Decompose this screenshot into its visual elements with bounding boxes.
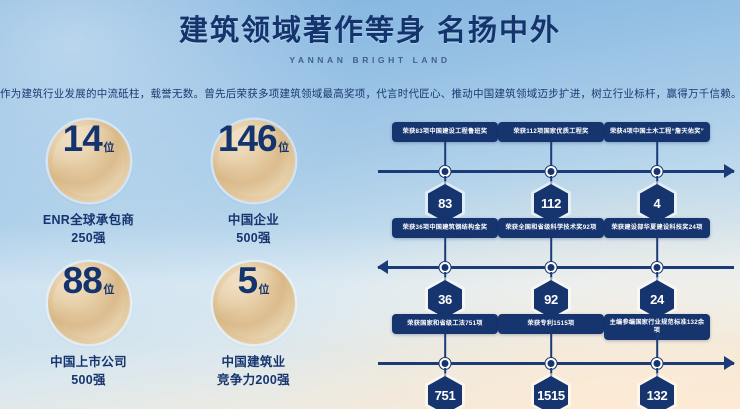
stat-label-line1: 中国建筑业: [217, 353, 290, 371]
stat-label: 中国企业500强: [228, 211, 279, 247]
timeline-item[interactable]: 荣获4项中国土木工程“詹天佑奖”4: [604, 122, 710, 208]
achievement-count: 1515: [537, 388, 565, 403]
achievement-label: 荣获36项中国建筑钢结构金奖: [392, 218, 498, 238]
achievement-count: 132: [647, 388, 668, 403]
stat-label-line1: 中国企业: [228, 211, 279, 229]
timeline-items: 荣获36项中国建筑钢结构金奖36荣获全国和省级科学技术奖92项92荣获建设部华夏…: [378, 218, 734, 304]
achievement-label: 荣获全国和省级科学技术奖92项: [498, 218, 604, 238]
timeline-item[interactable]: 荣获专利1515项1515: [498, 314, 604, 400]
achievement-label: 荣获建设部华夏建设科技奖24项: [604, 218, 710, 238]
page-subtitle-en: YANNAN BRIGHT LAND: [0, 55, 740, 65]
timeline-item[interactable]: 荣获建设部华夏建设科技奖24项24: [604, 218, 710, 304]
stat-label-line2: 250强: [43, 229, 134, 247]
stat-rank-unit: 位: [103, 139, 114, 155]
timeline-connector-upper: [656, 334, 658, 358]
achievement-label: 荣获国家和省级工法751项: [392, 314, 498, 334]
timeline-connector-upper: [656, 142, 658, 166]
achievement-count: 751: [435, 388, 456, 403]
page-header: 建筑领域著作等身 名扬中外 YANNAN BRIGHT LAND: [0, 14, 740, 65]
page-title: 建筑领域著作等身 名扬中外: [0, 14, 740, 49]
stat-rank-number: 5: [237, 262, 257, 299]
gold-medal-badge: 5位: [213, 262, 295, 344]
timeline-item[interactable]: 荣获36项中国建筑钢结构金奖36: [392, 218, 498, 304]
timeline-connector-upper: [444, 238, 446, 262]
timeline-item[interactable]: 荣获112项国家优质工程奖112: [498, 122, 604, 208]
stat-label: 中国建筑业竞争力200强: [217, 353, 290, 389]
gold-medal-badge: 146位: [213, 120, 295, 202]
achievement-label: 荣获专利1515项: [498, 314, 604, 334]
gold-medal-badge: 88位: [48, 262, 130, 344]
timeline-connector-upper: [550, 238, 552, 262]
achievement-count: 24: [650, 292, 664, 307]
stat-card: 88位中国上市公司500强: [6, 262, 171, 404]
timeline-connector-upper: [444, 334, 446, 358]
achievement-count: 36: [438, 292, 452, 307]
stat-label-line2: 500强: [228, 229, 279, 247]
intro-paragraph: 作为建筑行业发展的中流砥柱，载誉无数。曾先后荣获多项建筑领域最高奖项，代言时代匠…: [0, 86, 740, 101]
achievement-label: 荣获112项国家优质工程奖: [498, 122, 604, 142]
stat-label-line2: 500强: [50, 371, 127, 389]
timeline-connector-upper: [550, 142, 552, 166]
timeline-row: 荣获83项中国建设工程鲁班奖83荣获112项国家优质工程奖112荣获4项中国土木…: [378, 122, 734, 208]
timeline-items: 荣获国家和省级工法751项751荣获专利1515项1515主编参编国家行业规范标…: [378, 314, 734, 400]
stat-label: 中国上市公司500强: [50, 353, 127, 389]
achievement-label: 荣获83项中国建设工程鲁班奖: [392, 122, 498, 142]
stat-label-line1: 中国上市公司: [50, 353, 127, 371]
gold-medal-badge: 14位: [48, 120, 130, 202]
achievement-count: 4: [654, 196, 661, 211]
timeline-connector-upper: [444, 142, 446, 166]
achievement-count: 92: [544, 292, 558, 307]
timeline-item[interactable]: 荣获83项中国建设工程鲁班奖83: [392, 122, 498, 208]
timeline-items: 荣获83项中国建设工程鲁班奖83荣获112项国家优质工程奖112荣获4项中国土木…: [378, 122, 734, 208]
stat-label-line1: ENR全球承包商: [43, 211, 134, 229]
stat-rank-unit: 位: [103, 281, 114, 297]
achievement-count: 83: [438, 196, 452, 211]
stat-label-line2: 竞争力200强: [217, 371, 290, 389]
timeline-row: 荣获36项中国建筑钢结构金奖36荣获全国和省级科学技术奖92项92荣获建设部华夏…: [378, 218, 734, 304]
stat-rank-number: 146: [218, 120, 277, 157]
timeline-connector-upper: [656, 238, 658, 262]
stat-card: 5位中国建筑业竞争力200强: [171, 262, 336, 404]
stat-rank-number: 88: [63, 262, 102, 299]
achievement-count: 112: [541, 196, 561, 211]
timeline-connector-upper: [550, 334, 552, 358]
stat-rank-number: 14: [63, 120, 102, 157]
stat-rank-unit: 位: [259, 281, 270, 297]
stat-rank-unit: 位: [278, 139, 289, 155]
stat-card: 14位ENR全球承包商250强: [6, 120, 171, 262]
stat-label: ENR全球承包商250强: [43, 211, 134, 247]
timeline-item[interactable]: 主编参编国家行业规范标准132余项132: [604, 314, 710, 400]
stats-grid: 14位ENR全球承包商250强146位中国企业500强88位中国上市公司500强…: [6, 120, 336, 404]
achievement-label: 荣获4项中国土木工程“詹天佑奖”: [604, 122, 710, 142]
timeline-item[interactable]: 荣获国家和省级工法751项751: [392, 314, 498, 400]
achievements-timeline: 荣获83项中国建设工程鲁班奖83荣获112项国家优质工程奖112荣获4项中国土木…: [378, 122, 734, 400]
timeline-item[interactable]: 荣获全国和省级科学技术奖92项92: [498, 218, 604, 304]
stat-card: 146位中国企业500强: [171, 120, 336, 262]
timeline-row: 荣获国家和省级工法751项751荣获专利1515项1515主编参编国家行业规范标…: [378, 314, 734, 400]
